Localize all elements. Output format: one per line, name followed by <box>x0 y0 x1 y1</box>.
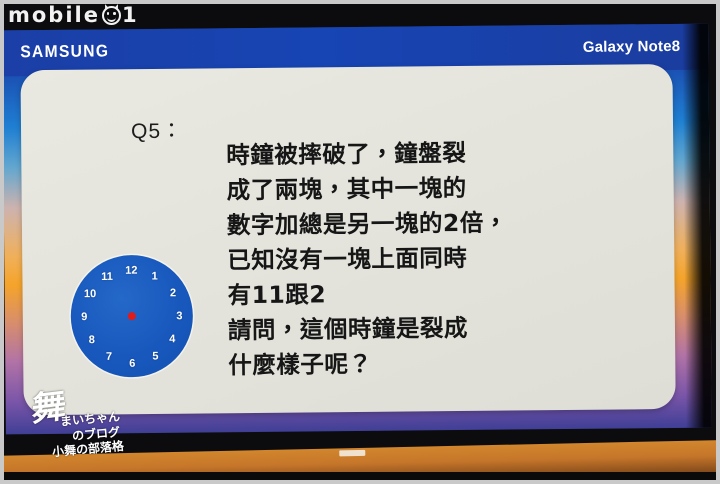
screen-edge-shadow <box>682 24 712 428</box>
clock-numeral-5: 5 <box>152 352 158 363</box>
question-line: 成了兩塊，其中一塊的 <box>226 169 646 208</box>
device-model-label: Galaxy Note8 <box>583 38 681 56</box>
question-line: 已知沒有一塊上面同時 <box>227 239 647 278</box>
clock-numeral-3: 3 <box>176 311 182 322</box>
clock-numeral-2: 2 <box>170 288 176 299</box>
clock-numeral-8: 8 <box>89 335 95 346</box>
devil-horn-left-icon <box>103 3 109 9</box>
samsung-logo: SAMSUNG <box>20 41 109 62</box>
devil-smiley-icon <box>102 6 121 25</box>
clock-numeral-6: 6 <box>129 358 135 369</box>
device-screen: SAMSUNG Galaxy Note8 Q5： 時鐘被摔破了，鐘盤裂 成了兩塊… <box>2 24 712 435</box>
mobile01-suffix: 1 <box>122 5 137 26</box>
question-card: Q5： 時鐘被摔破了，鐘盤裂 成了兩塊，其中一塊的 數字加總是另一塊的2倍， 已… <box>20 64 675 415</box>
clock-center-dot <box>128 312 136 320</box>
question-text: 時鐘被摔破了，鐘盤裂 成了兩塊，其中一塊的 數字加總是另一塊的2倍， 已知沒有一… <box>226 134 648 383</box>
question-line: 數字加總是另一塊的2倍， <box>227 204 647 243</box>
clock-face-illustration: 12 1 2 3 4 5 6 7 8 9 10 11 <box>70 255 193 378</box>
photographed-screen-container: mobile 1 SAMSUNG Galaxy Note8 Q5： 時鐘被摔破了… <box>0 0 720 484</box>
bottom-dark-strip <box>0 472 720 484</box>
clock-numeral-1: 1 <box>152 271 158 282</box>
clock-numeral-11: 11 <box>101 272 113 283</box>
question-line: 時鐘被摔破了，鐘盤裂 <box>226 134 646 173</box>
mobile01-wordmark: mobile <box>8 5 100 26</box>
desk-light-glint <box>339 450 365 457</box>
clock-numeral-7: 7 <box>106 352 112 363</box>
question-line: 有11跟2 <box>227 274 647 313</box>
smiley-mouth <box>107 15 116 22</box>
clock-numeral-10: 10 <box>84 289 96 300</box>
clock-numeral-9: 9 <box>81 312 87 323</box>
devil-horn-right-icon <box>114 3 120 9</box>
question-line: 請問，這個時鐘是裂成 <box>228 309 648 348</box>
clock-numeral-4: 4 <box>169 335 175 346</box>
clock-numeral-12: 12 <box>125 265 137 276</box>
question-line: 什麼樣子呢？ <box>228 344 648 383</box>
question-number-label: Q5： <box>131 115 183 145</box>
mobile01-watermark: mobile 1 <box>8 2 137 28</box>
